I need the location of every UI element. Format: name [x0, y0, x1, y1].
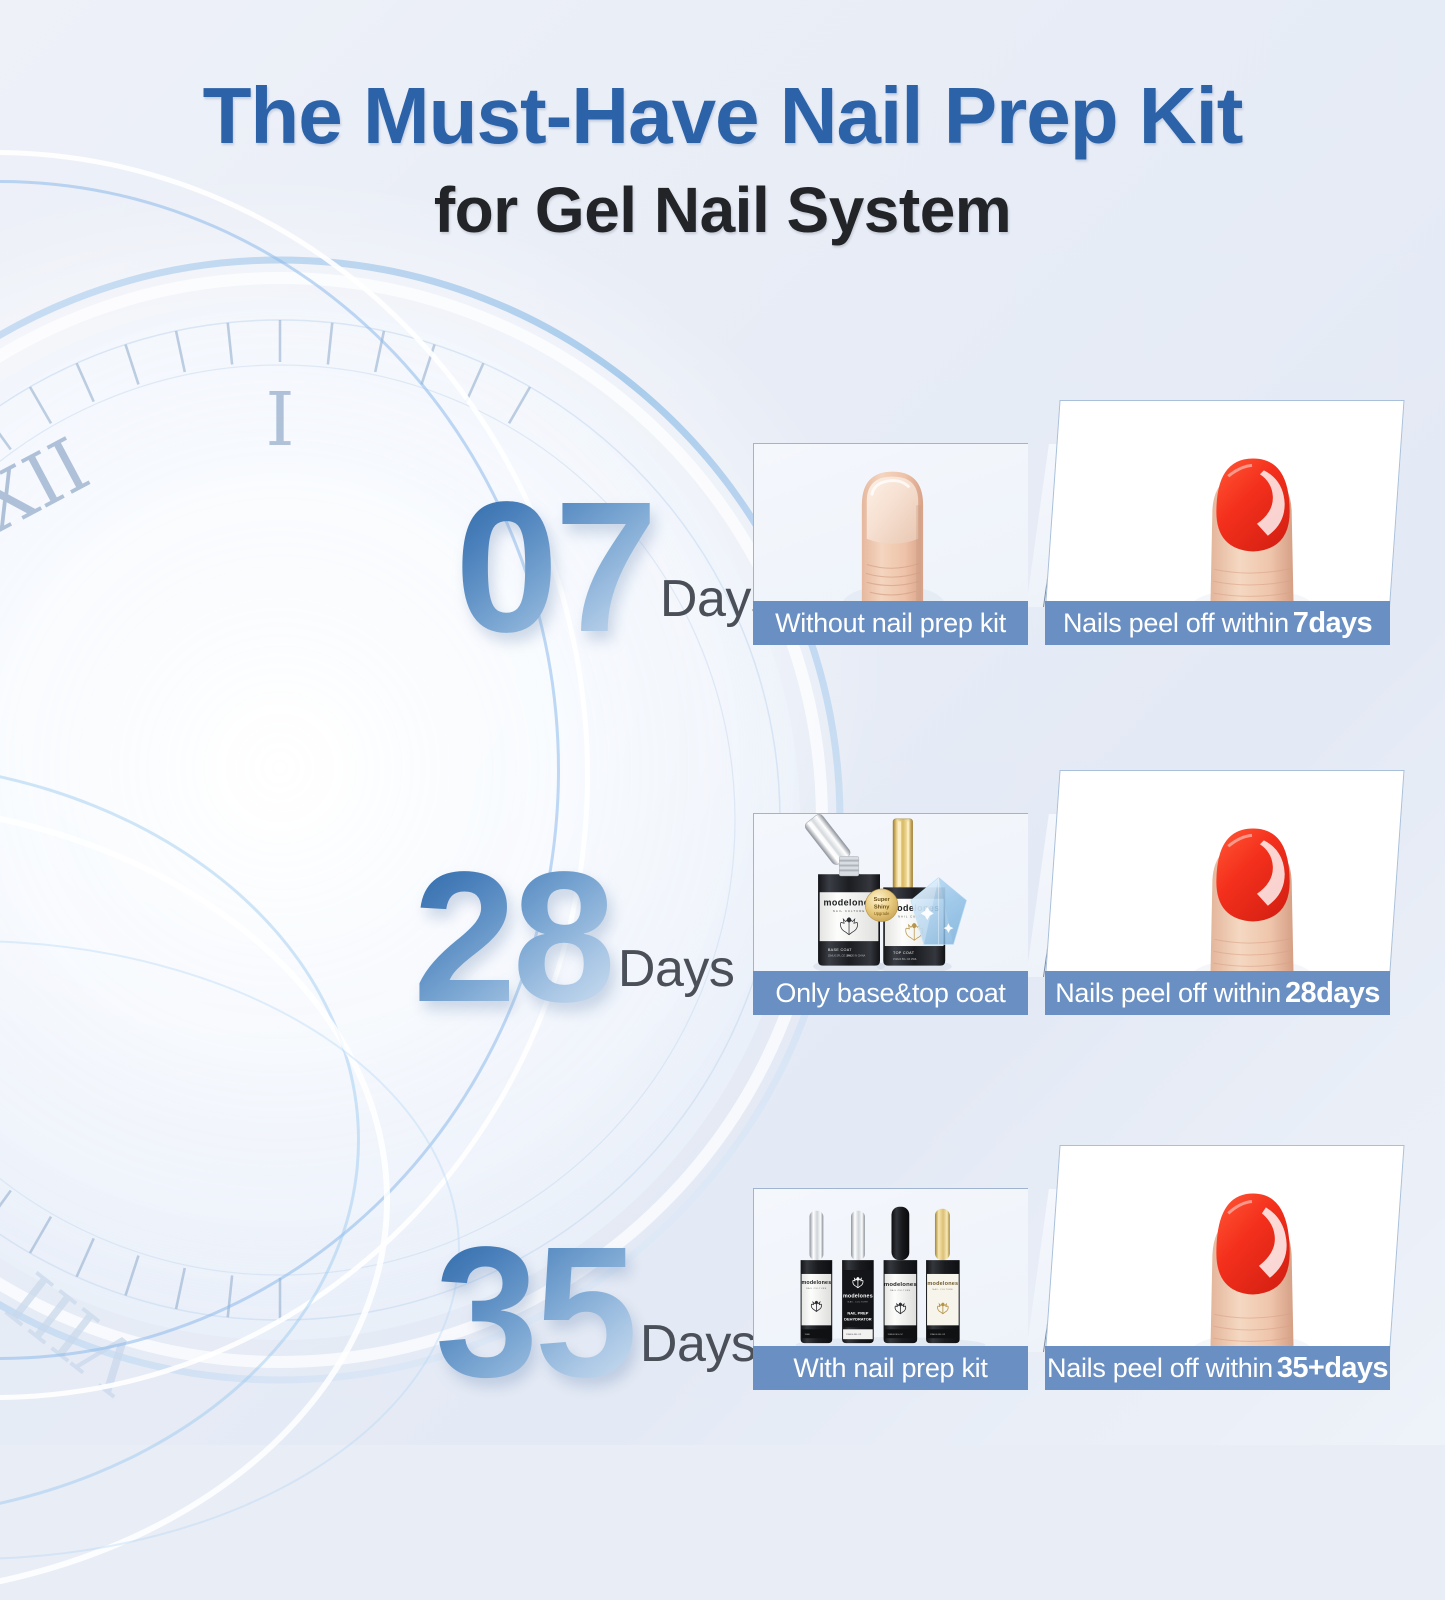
comparison-panels: modelones NAIL CULTURE BASE COAT 15ML/0.… [745, 715, 1385, 1015]
duration-number: 07 [455, 491, 654, 645]
comparison-panels: modelones NAIL CULTURE 15ML [745, 1090, 1385, 1390]
caption-after-strong: 7days [1293, 607, 1372, 640]
bare-finger-nail-illustration [754, 444, 1028, 607]
svg-text:DEHYDRATOR: DEHYDRATOR [844, 1316, 872, 1321]
svg-text:TOP COAT: TOP COAT [893, 951, 915, 955]
caption-after-strong: 28days [1285, 977, 1380, 1010]
svg-text:NAIL CULTURE: NAIL CULTURE [933, 1288, 954, 1291]
red-painted-nail-illustration [1053, 771, 1396, 977]
svg-text:15ML/0.5FL.OZ 15ML: 15ML/0.5FL.OZ 15ML [893, 958, 917, 961]
caption-after-strong: 35+days [1277, 1352, 1388, 1385]
svg-text:BASE COAT: BASE COAT [828, 948, 852, 952]
svg-text:15ML: 15ML [805, 1334, 811, 1336]
caption-after: Nails peel off within 35+days [1045, 1346, 1390, 1390]
svg-text:15ML/0.5FL.OZ: 15ML/0.5FL.OZ [846, 1334, 862, 1336]
duration-unit: Days [618, 939, 734, 1015]
caption-after: Nails peel off within 28days [1045, 971, 1390, 1015]
caption-after-prefix: Nails peel off within [1063, 608, 1289, 639]
svg-text:modelones: modelones [927, 1281, 958, 1287]
panel-before: modelones NAIL CULTURE 15ML [753, 1188, 1028, 1353]
panel-after [1045, 1145, 1405, 1353]
svg-text:NAIL CULTURE: NAIL CULTURE [848, 1301, 869, 1304]
red-painted-nail-illustration [1053, 1146, 1396, 1352]
caption-after: Nails peel off within 7days [1045, 601, 1390, 645]
caption-before: With nail prep kit [753, 1346, 1028, 1390]
duration-block: 35 Days [435, 1236, 756, 1390]
panel-before: modelones NAIL CULTURE BASE COAT 15ML/0.… [753, 813, 1028, 978]
svg-text:Super: Super [874, 897, 891, 903]
svg-text:15ML/0.5FL.OZ: 15ML/0.5FL.OZ [930, 1334, 946, 1336]
svg-text:modelones: modelones [843, 1294, 873, 1300]
svg-text:Upgrade: Upgrade [874, 911, 890, 916]
duration-block: 07 Days [455, 491, 776, 645]
title-line-secondary: for Gel Nail System [0, 178, 1445, 242]
caption-before: Only base&top coat [753, 971, 1028, 1015]
comparison-row-28: 28 Days [0, 715, 1445, 1015]
svg-text:15ML/0.5FL.OZ: 15ML/0.5FL.OZ [888, 1334, 904, 1336]
duration-number: 35 [435, 1236, 634, 1390]
panel-after [1045, 400, 1405, 608]
caption-after-prefix: Nails peel off within [1055, 978, 1281, 1009]
svg-text:NAIL CULTURE: NAIL CULTURE [833, 909, 866, 913]
svg-text:Shiny: Shiny [874, 905, 890, 911]
comparison-row-07: 07 Days [0, 345, 1445, 645]
page-title: The Must-Have Nail Prep Kit for Gel Nail… [0, 76, 1445, 242]
svg-text:NAIL CULTURE: NAIL CULTURE [806, 1287, 827, 1290]
comparison-row-35: 35 Days [0, 1090, 1445, 1390]
svg-text:modelones: modelones [884, 1282, 917, 1288]
four-polish-bottles-illustration: modelones NAIL CULTURE 15ML [754, 1189, 1028, 1352]
caption-after-prefix: Nails peel off within [1047, 1353, 1273, 1384]
comparison-panels: Without nail prep kit Nails peel off wit… [745, 345, 1385, 645]
panel-after [1045, 770, 1405, 978]
svg-text:modelones: modelones [801, 1280, 831, 1286]
duration-unit: Days [640, 1314, 756, 1390]
duration-block: 28 Days [413, 861, 734, 1015]
red-painted-nail-illustration [1053, 401, 1396, 607]
duration-number: 28 [413, 861, 612, 1015]
svg-text:NAIL PREP: NAIL PREP [847, 1310, 868, 1315]
caption-before: Without nail prep kit [753, 601, 1028, 645]
two-polish-bottles-illustration: modelones NAIL CULTURE BASE COAT 15ML/0.… [754, 814, 1028, 977]
panel-before [753, 443, 1028, 608]
svg-text:MADE IN CHINA: MADE IN CHINA [847, 955, 866, 958]
title-line-primary: The Must-Have Nail Prep Kit [0, 76, 1445, 156]
svg-text:NAIL CULTURE: NAIL CULTURE [890, 1289, 911, 1292]
